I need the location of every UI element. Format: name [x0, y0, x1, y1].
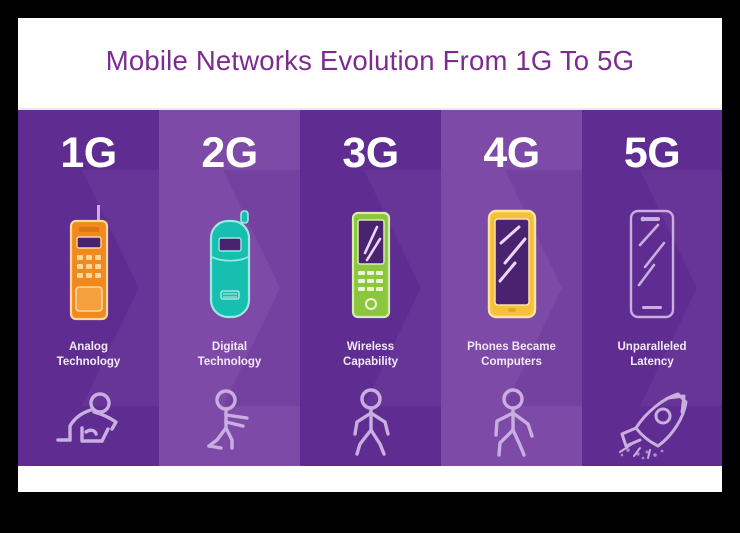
column-2g: 2G [159, 110, 300, 466]
footer-strip [18, 466, 722, 492]
generation-label-1g: 1G [18, 132, 159, 175]
striding-person-icon [441, 388, 582, 462]
caption-1g: Analog Technology [18, 340, 159, 369]
outline-smartphone-icon [582, 205, 722, 325]
caption-2g-line2: Technology [198, 356, 262, 368]
walking-person-icon [300, 388, 441, 462]
caption-4g-line2: Computers [481, 356, 542, 368]
column-5g: 5G [582, 110, 722, 466]
generations-band: 1G [18, 110, 722, 466]
caption-5g-line1: Unparalleled [617, 341, 686, 353]
kneeling-person-icon [159, 388, 300, 462]
caption-2g: Digital Technology [159, 340, 300, 369]
generation-label-5g: 5G [582, 132, 722, 175]
header: Mobile Networks Evolution From 1G To 5G [18, 18, 722, 108]
generation-label-2g: 2G [159, 132, 300, 175]
caption-2g-line1: Digital [212, 341, 247, 353]
caption-5g: Unparalleled Latency [582, 340, 722, 369]
caption-3g-line1: Wireless [347, 341, 394, 353]
infographic-frame: Mobile Networks Evolution From 1G To 5G … [0, 0, 740, 533]
rocket-icon [582, 388, 722, 462]
column-1g: 1G [18, 110, 159, 466]
brick-phone-icon [18, 205, 159, 325]
caption-4g: Phones Became Computers [441, 340, 582, 369]
infographic-card: Mobile Networks Evolution From 1G To 5G … [18, 18, 722, 492]
caption-4g-line1: Phones Became [467, 341, 556, 353]
caption-1g-line2: Technology [57, 356, 121, 368]
generation-label-4g: 4G [441, 132, 582, 175]
caption-5g-line2: Latency [630, 356, 673, 368]
flip-phone-icon [159, 205, 300, 325]
candybar-phone-icon [300, 205, 441, 325]
caption-3g-line2: Capability [343, 356, 398, 368]
smartphone-icon [441, 205, 582, 325]
caption-1g-line1: Analog [69, 341, 108, 353]
column-4g: 4G Phones B [441, 110, 582, 466]
generation-label-3g: 3G [300, 132, 441, 175]
crawling-baby-icon [18, 388, 159, 462]
column-3g: 3G [300, 110, 441, 466]
caption-3g: Wireless Capability [300, 340, 441, 369]
page-title: Mobile Networks Evolution From 1G To 5G [18, 45, 722, 77]
